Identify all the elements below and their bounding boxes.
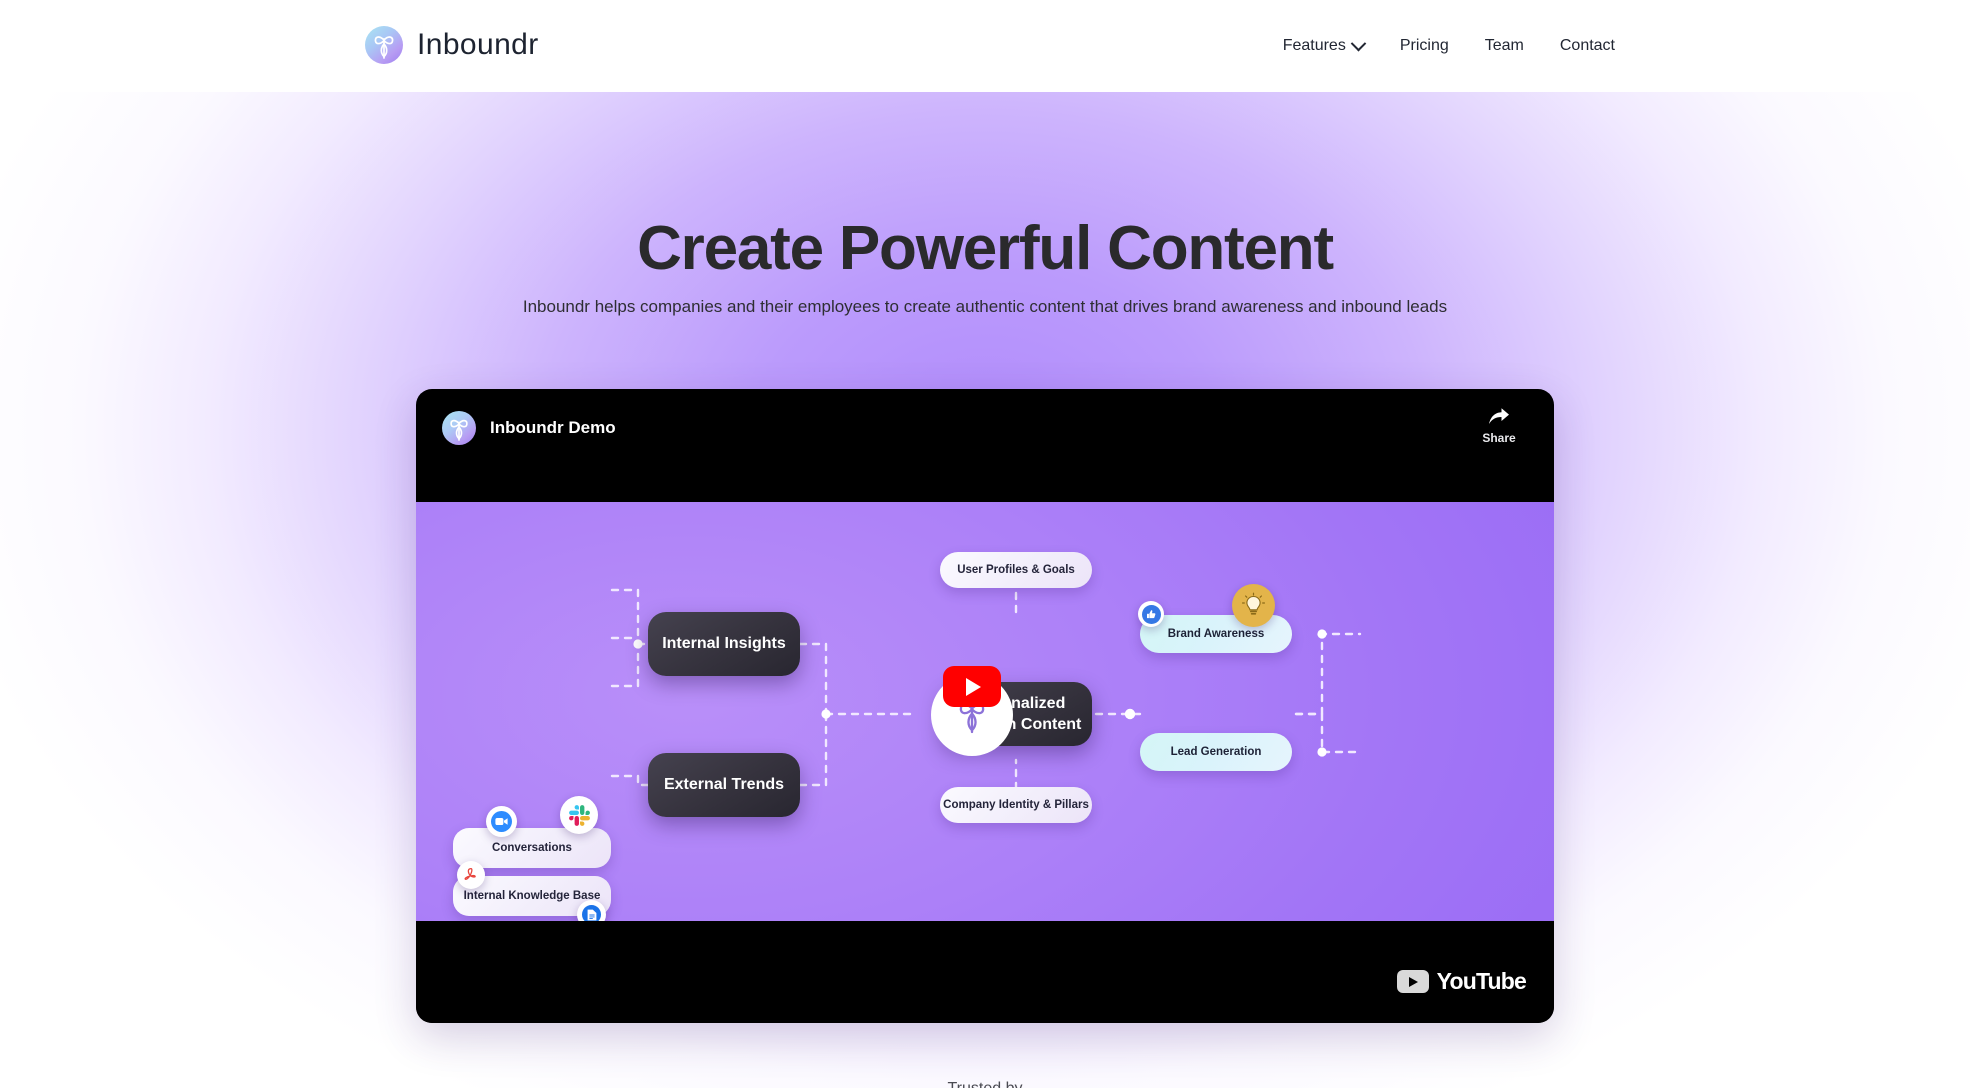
diagram-node-lead-generation[interactable]: Lead Generation: [1140, 733, 1292, 771]
nav-label: Team: [1485, 37, 1524, 55]
node-label: Internal Insights: [662, 634, 786, 654]
inboundr-leaf-logo-icon: [365, 26, 403, 64]
nav-item-team[interactable]: Team: [1467, 29, 1542, 63]
nav-label: Contact: [1560, 37, 1615, 55]
youtube-logo-icon[interactable]: YouTube: [1397, 968, 1526, 995]
page-title: Create Powerful Content: [0, 213, 1970, 284]
diagram-node-user-profiles-goals[interactable]: User Profiles & Goals: [940, 552, 1092, 588]
zoom-icon: [486, 806, 517, 837]
diagram-node-internal-insights[interactable]: Internal Insights: [648, 612, 800, 676]
video-title: Inboundr Demo: [490, 418, 616, 438]
youtube-play-icon[interactable]: [943, 666, 1001, 707]
nav-item-pricing[interactable]: Pricing: [1382, 29, 1467, 63]
main-nav: Features Pricing Team Contact: [1265, 0, 1615, 92]
node-label: Internal Knowledge Base: [464, 889, 601, 903]
node-label: External Trends: [664, 775, 784, 795]
youtube-wordmark: YouTube: [1437, 968, 1526, 995]
play-triangle-icon: [966, 678, 981, 696]
google-docs-icon: [577, 900, 606, 921]
video-channel[interactable]: Inboundr Demo: [442, 411, 616, 445]
page-subtitle: Inboundr helps companies and their emplo…: [0, 297, 1970, 317]
brand-name: Inboundr: [417, 28, 539, 62]
play-triangle-icon: [1409, 977, 1418, 987]
page-root: Inboundr Features Pricing Team Contact C…: [0, 0, 1970, 1088]
node-label: Lead Generation: [1171, 746, 1262, 758]
video-footer: YouTube: [416, 921, 1554, 1023]
node-label: Company Identity & Pillars: [943, 798, 1089, 812]
share-label: Share: [1482, 431, 1515, 445]
video-play-button[interactable]: [931, 674, 1013, 756]
pdf-icon: [457, 861, 485, 889]
share-button[interactable]: Share: [1470, 407, 1528, 445]
node-label: User Profiles & Goals: [957, 563, 1075, 577]
top-navigation-bar: Inboundr Features Pricing Team Contact: [0, 0, 1970, 92]
diagram-node-brand-awareness[interactable]: Brand Awareness: [1140, 615, 1292, 653]
video-player-card[interactable]: Inboundr Demo Share: [416, 389, 1554, 1023]
lightbulb-icon: [1232, 584, 1275, 627]
chevron-down-icon: [1351, 35, 1367, 51]
nav-item-features[interactable]: Features: [1265, 29, 1382, 63]
node-label: Brand Awareness: [1168, 628, 1265, 640]
inboundr-leaf-logo-icon: [442, 411, 476, 445]
nav-label: Pricing: [1400, 37, 1449, 55]
trusted-by-caption: Trusted by: [0, 1080, 1970, 1088]
nav-label: Features: [1283, 37, 1346, 55]
youtube-play-box-icon: [1397, 970, 1429, 993]
node-label: Conversations: [492, 841, 572, 855]
share-arrow-icon: [1488, 407, 1510, 426]
thumbs-up-icon: [1138, 601, 1164, 627]
diagram-node-external-trends[interactable]: External Trends: [648, 753, 800, 817]
slack-icon: [560, 796, 598, 834]
brand-logo[interactable]: Inboundr: [365, 26, 539, 64]
video-header: Inboundr Demo: [416, 389, 1554, 502]
nav-item-contact[interactable]: Contact: [1542, 29, 1615, 63]
diagram-node-company-identity-pillars[interactable]: Company Identity & Pillars: [940, 787, 1092, 823]
